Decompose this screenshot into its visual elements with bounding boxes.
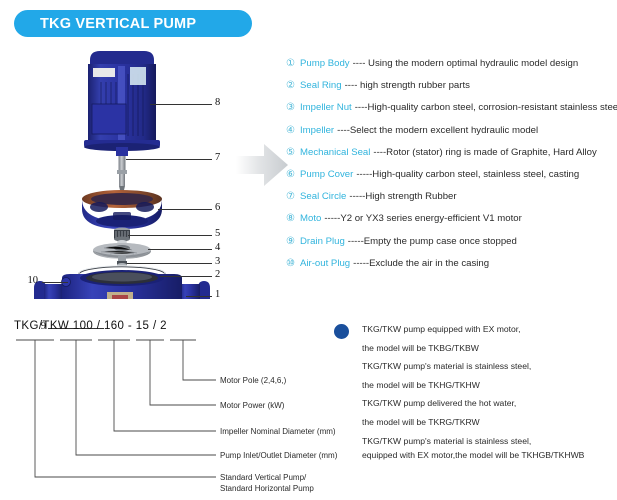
model-label-impeller-dia: Impeller Nominal Diameter (mm) (220, 426, 336, 437)
note-line-1: TKG/TKW pump equipped with EX motor, (334, 320, 617, 339)
right-arrow-icon (234, 140, 290, 190)
legend-item-4: ④ Impeller ----Select the modern excelle… (286, 125, 617, 147)
shaft-graphic (116, 147, 128, 192)
legend-name-10: Air-out Plug (300, 258, 350, 269)
callout-2: 2 (215, 269, 220, 280)
model-label-pump-type-line1: Standard Vertical Pump/ (220, 472, 306, 483)
legend-name-7: Seal Circle (300, 191, 346, 202)
legend-name-8: Moto (300, 213, 321, 224)
legend-desc-1: ---- Using the modern optimal hydraulic … (353, 58, 579, 69)
legend-item-9: ⑨ Drain Plug -----Empty the pump case on… (286, 236, 617, 258)
legend-desc-10: -----Exclude the air in the casing (353, 258, 489, 269)
legend-item-1: ① Pump Body ---- Using the modern optima… (286, 58, 617, 80)
legend-item-10: ⑩ Air-out Plug -----Exclude the air in t… (286, 258, 617, 280)
legend-item-2: ② Seal Ring ---- high strength rubber pa… (286, 80, 617, 102)
model-label-pump-type-line2: Standard Horizontal Pump (220, 483, 314, 494)
callout-10: 10 (16, 275, 38, 286)
legend-item-6: ⑥ Pump Cover -----High-quality carbon st… (286, 169, 617, 191)
legend-number-5: ⑤ (286, 147, 300, 158)
legend-desc-9: -----Empty the pump case once stopped (348, 236, 517, 247)
note-line-8: equipped with EX motor,the model will be… (334, 449, 617, 463)
parts-legend: ① Pump Body ---- Using the modern optima… (286, 58, 617, 280)
callout-1: 1 (215, 289, 220, 300)
pump-cover-graphic (82, 190, 162, 229)
leader-line-1 (186, 296, 212, 297)
legend-number-6: ⑥ (286, 169, 300, 180)
legend-name-9: Drain Plug (300, 236, 345, 247)
note-line-4: the model will be TKHG/TKHW (334, 376, 617, 395)
model-label-motor-power: Motor Power (kW) (220, 400, 284, 411)
legend-number-3: ③ (286, 102, 300, 113)
legend-item-3: ③ Impeller Nut ----High-quality carbon s… (286, 102, 617, 124)
callout-3: 3 (215, 256, 220, 267)
legend-number-10: ⑩ (286, 258, 300, 269)
legend-name-6: Pump Cover (300, 169, 353, 180)
callout-4: 4 (215, 242, 220, 253)
callout-6: 6 (215, 202, 220, 213)
pump-exploded-diagram: 8 7 6 5 4 3 2 1 10 9 (0, 44, 272, 299)
legend-desc-6: -----High-quality carbon steel, stainles… (356, 169, 579, 180)
legend-item-8: ⑧ Moto -----Y2 or YX3 series energy-effi… (286, 213, 617, 235)
legend-desc-4: ----Select the modern excellent hydrauli… (337, 125, 538, 136)
leader-line-5 (128, 235, 212, 236)
note-line-7: TKG/TKW pump's material is stainless ste… (334, 435, 617, 449)
note-line-2: the model will be TKBG/TKBW (334, 339, 617, 358)
legend-name-5: Mechanical Seal (300, 147, 370, 158)
model-label-port-dia: Pump Inlet/Outlet Diameter (mm) (220, 450, 337, 461)
legend-name-3: Impeller Nut (300, 102, 352, 113)
callout-7: 7 (215, 152, 220, 163)
impeller-graphic (93, 243, 151, 261)
legend-number-4: ④ (286, 125, 300, 136)
callout-5: 5 (215, 228, 220, 239)
legend-desc-3: ----High-quality carbon steel, corrosion… (355, 102, 617, 113)
model-variant-notes: TKG/TKW pump equipped with EX motor, the… (334, 320, 617, 462)
legend-item-7: ⑦ Seal Circle -----High strength Rubber (286, 191, 617, 213)
leader-line-7 (126, 159, 212, 160)
legend-desc-2: ---- high strength rubber parts (345, 80, 470, 91)
leader-line-8 (150, 104, 212, 105)
motor-graphic (84, 51, 160, 151)
pump-illustration-svg (0, 44, 272, 299)
note-line-6: the model will be TKRG/TKRW (334, 413, 617, 432)
legend-number-1: ① (286, 58, 300, 69)
product-spec-sheet: TKG VERTICAL PUMP (0, 0, 617, 500)
title-banner: TKG VERTICAL PUMP (14, 10, 252, 37)
leader-line-4 (148, 249, 212, 250)
page-title: TKG VERTICAL PUMP (14, 16, 196, 32)
model-label-motor-pole: Motor Pole (2,4,6,) (220, 375, 286, 386)
legend-item-5: ⑤ Mechanical Seal ----Rotor (stator) rin… (286, 147, 617, 169)
legend-name-2: Seal Ring (300, 80, 342, 91)
bullet-dot-icon (334, 324, 349, 339)
legend-number-9: ⑨ (286, 236, 300, 247)
note-line-3: TKG/TKW pump's material is stainless ste… (334, 357, 617, 376)
leader-line-2 (160, 276, 212, 277)
legend-number-8: ⑧ (286, 213, 300, 224)
pump-body-graphic (34, 270, 210, 299)
note-line-5: TKG/TKW pump delivered the hot water, (334, 394, 617, 413)
legend-number-7: ⑦ (286, 191, 300, 202)
legend-name-4: Impeller (300, 125, 334, 136)
legend-number-2: ② (286, 80, 300, 91)
legend-desc-8: -----Y2 or YX3 series energy-efficient V… (324, 213, 521, 224)
legend-name-1: Pump Body (300, 58, 350, 69)
leader-line-3 (127, 263, 212, 264)
callout-8: 8 (215, 97, 220, 108)
leader-line-10 (42, 282, 68, 283)
legend-desc-7: -----High strength Rubber (349, 191, 456, 202)
model-code-breakdown: TKG/TKW 100 / 160 - 15 / 2 (0, 312, 330, 500)
legend-desc-5: ----Rotor (stator) ring is made of Graph… (373, 147, 596, 158)
leader-line-6 (158, 209, 212, 210)
